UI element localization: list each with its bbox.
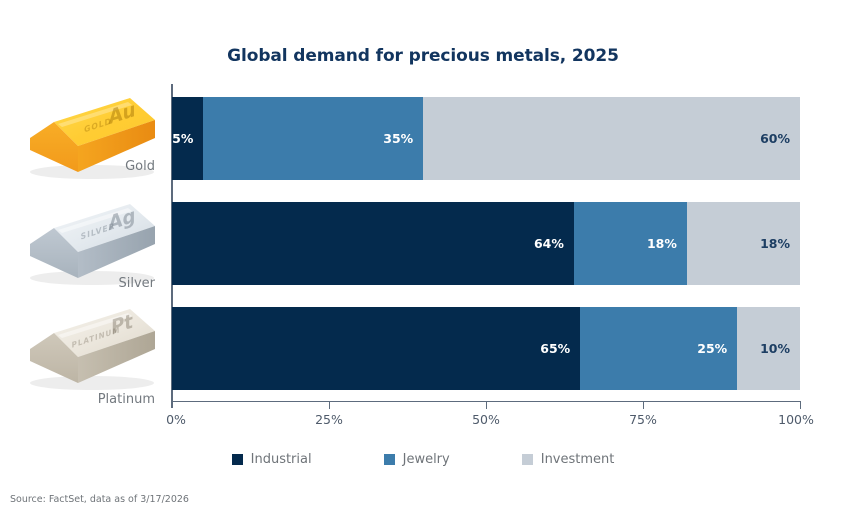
- bar-segment-platinum-industrial[interactable]: 65%: [172, 307, 580, 390]
- legend-label-industrial: Industrial: [251, 452, 312, 467]
- category-label-silver: Silver: [5, 276, 155, 291]
- category-label-platinum: Platinum: [5, 392, 155, 407]
- bar-value-label: 5%: [172, 131, 203, 146]
- source-note: Source: FactSet, data as of 3/17/2026: [10, 494, 189, 505]
- bar-value-label: 18%: [647, 236, 687, 251]
- bar-value-label: 35%: [383, 131, 423, 146]
- x-tick-75: [643, 402, 644, 409]
- legend-swatch-jewelry: [384, 454, 395, 465]
- bar-segment-platinum-jewelry[interactable]: 25%: [580, 307, 737, 390]
- bar-segment-gold-investment[interactable]: 60%: [423, 97, 800, 180]
- x-tick-label-75: 75%: [629, 412, 657, 427]
- bar-value-label: 65%: [540, 341, 580, 356]
- legend-label-investment: Investment: [541, 452, 615, 467]
- legend-label-jewelry: Jewelry: [403, 452, 450, 467]
- bar-value-label: 18%: [760, 236, 800, 251]
- bar-value-label: 10%: [760, 341, 800, 356]
- x-tick-100: [800, 402, 801, 409]
- legend-item-jewelry[interactable]: Jewelry: [384, 452, 450, 467]
- legend-item-investment[interactable]: Investment: [522, 452, 615, 467]
- bar-segment-silver-investment[interactable]: 18%: [687, 202, 800, 285]
- bar-segment-gold-industrial[interactable]: 5%: [172, 97, 203, 180]
- x-tick-label-25: 25%: [315, 412, 343, 427]
- chart-plot-area: Au GOLD: [0, 0, 846, 516]
- bar-row-platinum: 65% 25% 10%: [172, 307, 800, 390]
- bar-segment-platinum-investment[interactable]: 10%: [737, 307, 800, 390]
- bar-segment-gold-jewelry[interactable]: 35%: [203, 97, 423, 180]
- x-tick-label-100: 100%: [778, 412, 814, 427]
- bar-segment-silver-jewelry[interactable]: 18%: [574, 202, 687, 285]
- bar-value-label: 64%: [534, 236, 574, 251]
- x-tick-label-0: 0%: [166, 412, 186, 427]
- legend-swatch-industrial: [232, 454, 243, 465]
- platinum-ingot-icon: Pt PLATINUM: [18, 303, 168, 395]
- bar-segment-silver-industrial[interactable]: 64%: [172, 202, 574, 285]
- x-tick-50: [486, 402, 487, 409]
- x-tick-25: [329, 402, 330, 409]
- chart-legend: Industrial Jewelry Investment: [0, 452, 846, 467]
- legend-swatch-investment: [522, 454, 533, 465]
- legend-item-industrial[interactable]: Industrial: [232, 452, 312, 467]
- category-label-gold: Gold: [5, 159, 155, 174]
- bar-row-gold: 5% 35% 60%: [172, 97, 800, 180]
- bar-row-silver: 64% 18% 18%: [172, 202, 800, 285]
- bar-value-label: 60%: [760, 131, 800, 146]
- bar-value-label: 25%: [697, 341, 737, 356]
- x-tick-label-50: 50%: [472, 412, 500, 427]
